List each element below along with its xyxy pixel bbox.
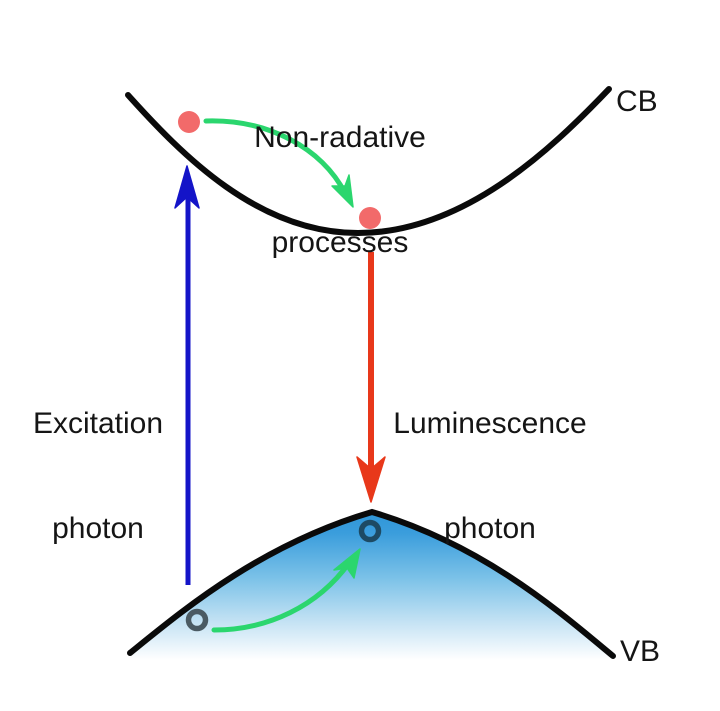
hot-electron [178, 111, 200, 133]
valence-band-label: VB [620, 634, 690, 669]
excitation-line-2: photon [18, 511, 178, 546]
nonradiative-line-1: Non-radative [245, 120, 435, 155]
excitation-photon-label: Excitation photon [18, 336, 178, 616]
luminescence-photon-label: Luminescence photon [385, 336, 595, 616]
excitation-line-1: Excitation [18, 406, 178, 441]
luminescence-line-1: Luminescence [385, 406, 595, 441]
conduction-band-label: CB [616, 84, 686, 119]
luminescence-line-2: photon [385, 511, 595, 546]
nonradiative-processes-label: Non-radative processes [245, 50, 435, 330]
excitation-arrow [175, 166, 199, 585]
band-diagram: Non-radative processes Excitation photon… [0, 0, 720, 711]
nonradiative-line-2: processes [245, 225, 435, 260]
